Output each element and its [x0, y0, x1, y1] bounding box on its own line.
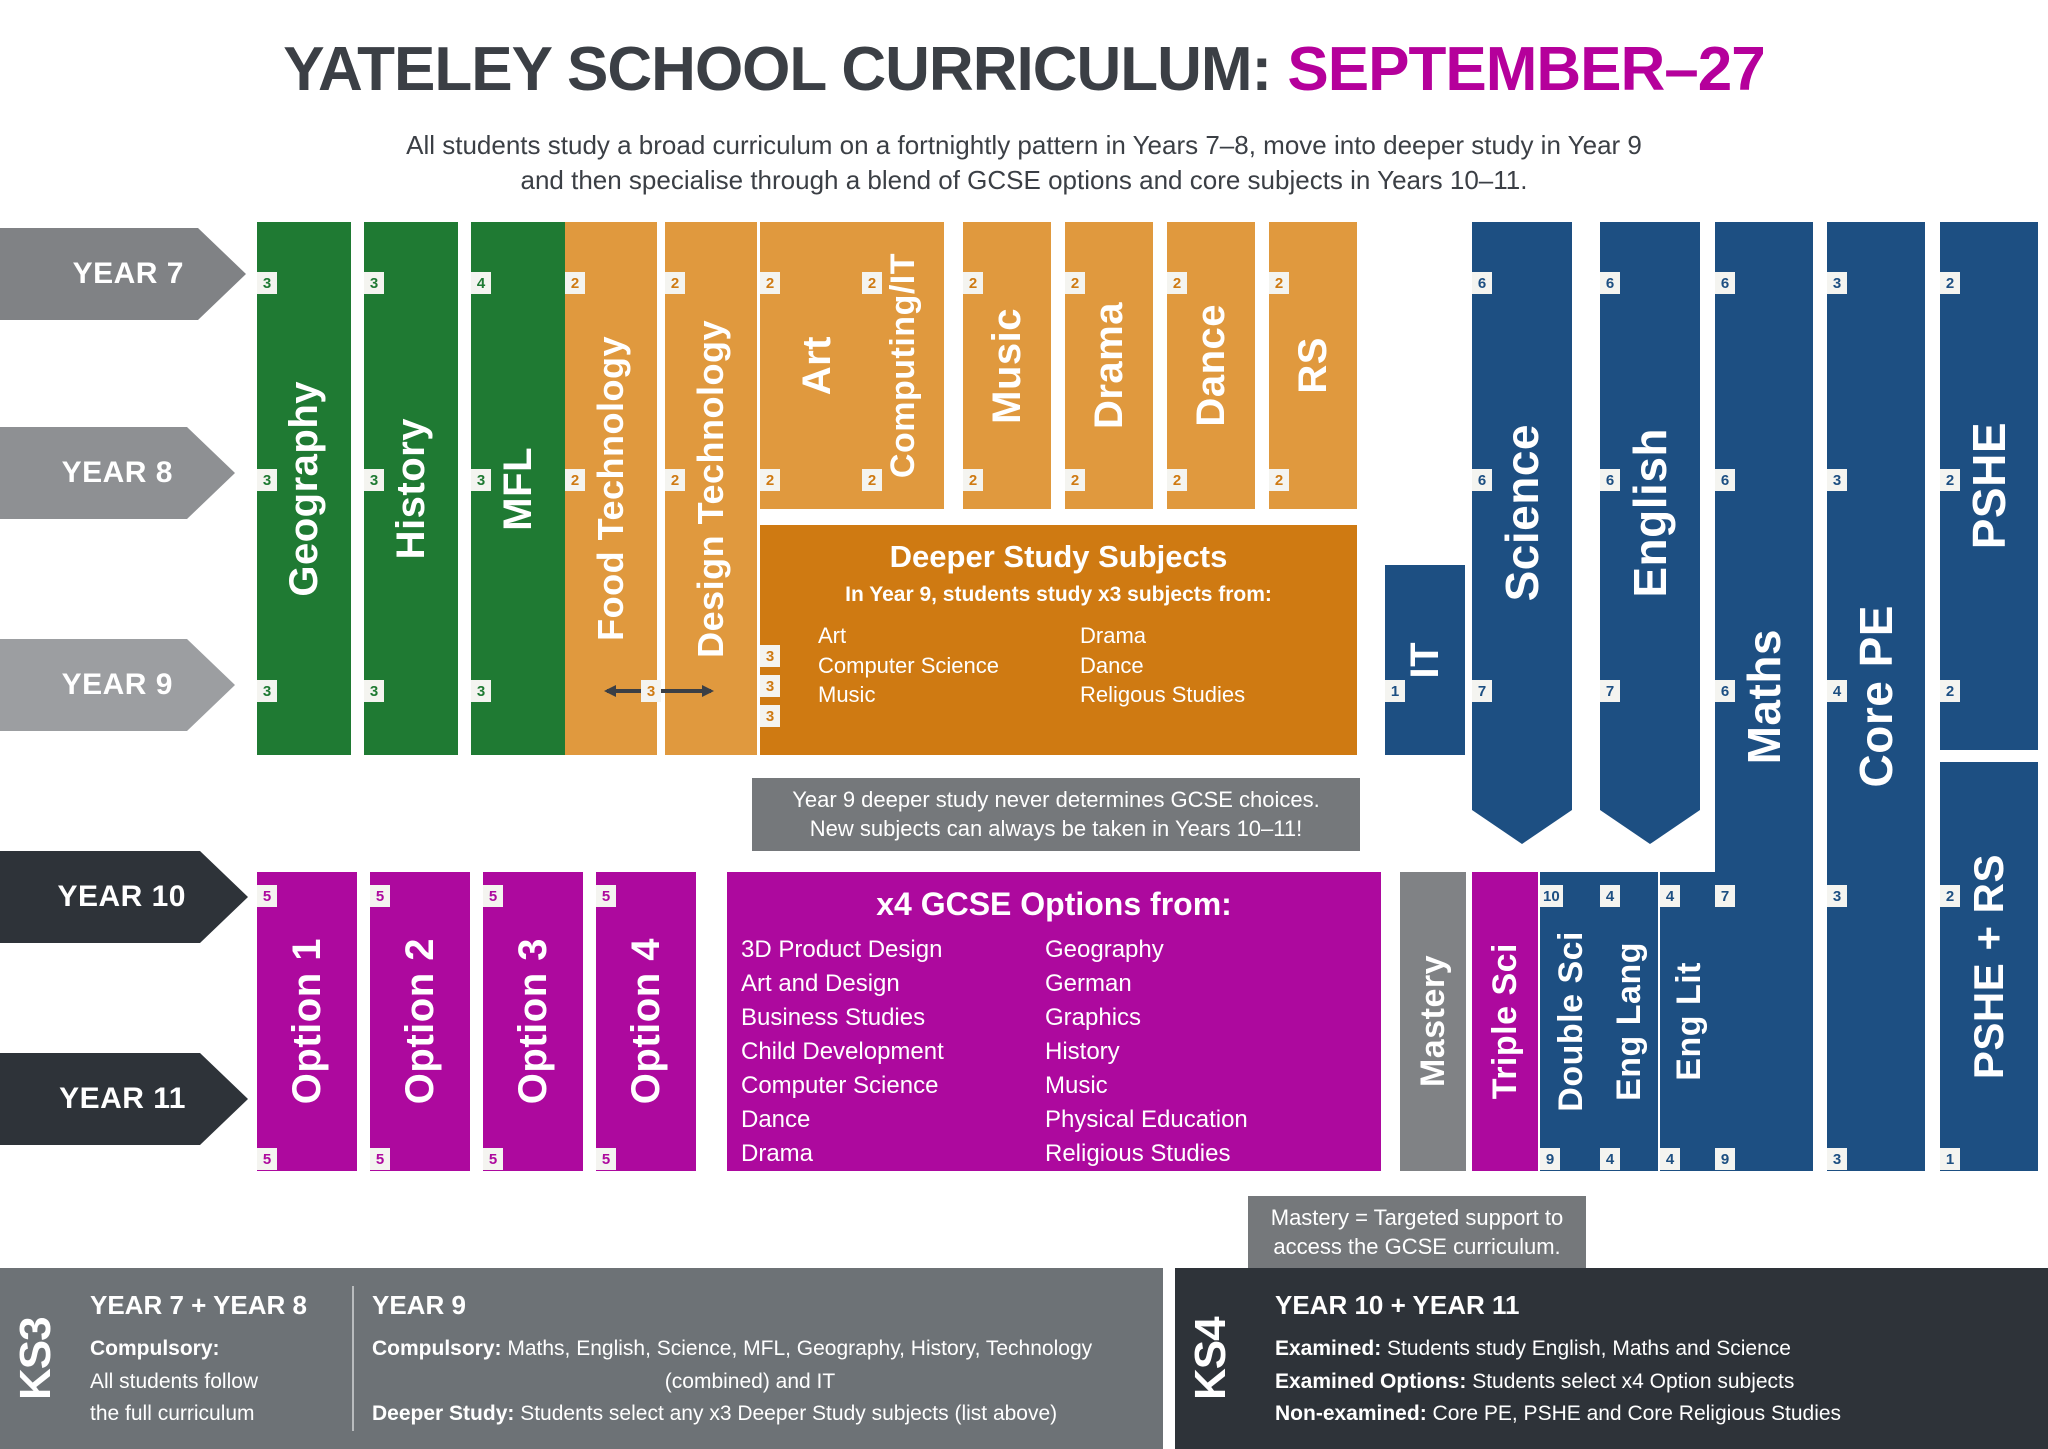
deeper-study-title: Deeper Study Subjects — [760, 539, 1357, 575]
badge-history-y8: 3 — [364, 469, 384, 491]
badge-option3-y11: 5 — [483, 1148, 503, 1170]
column-option-2: Option 2 — [370, 872, 470, 1171]
note-year9-deeper-study: Year 9 deeper study never determines GCS… — [752, 778, 1360, 851]
badge-eng-lang-y11: 4 — [1600, 1148, 1620, 1170]
list-item: Religious Studies — [1045, 1137, 1348, 1171]
badge-music-y8: 2 — [963, 469, 983, 491]
badge-computing-y7: 2 — [862, 272, 882, 294]
badge-double-sci-y10: 10 — [1540, 885, 1563, 907]
badge-mfl-y7: 4 — [471, 272, 491, 294]
gcse-options-title: x4 GCSE Options from: — [727, 872, 1381, 923]
list-item: Drama — [1080, 621, 1245, 651]
ks3-deeper-text: Students select any x3 Deeper Study subj… — [514, 1402, 1057, 1425]
gcse-options-panel: x4 GCSE Options from: 3D Product Design … — [727, 872, 1381, 1171]
column-label: Art — [795, 336, 840, 395]
badge-music-y7: 2 — [963, 272, 983, 294]
column-label: Mastery — [1414, 955, 1453, 1087]
column-mastery: Mastery — [1400, 872, 1466, 1171]
column-music: Music — [963, 222, 1051, 509]
page-subtitle: All students study a broad curriculum on… — [0, 128, 2048, 198]
column-label: Computing/IT — [884, 253, 923, 478]
badge-deeper-3: 3 — [760, 705, 780, 727]
badge-rs-y8: 2 — [1269, 469, 1289, 491]
badge-art-y7: 2 — [760, 272, 780, 294]
year-arrow-year-10: YEAR 10 — [0, 851, 248, 943]
subtitle-line-2: and then specialise through a blend of G… — [0, 163, 2048, 198]
column-english: English — [1600, 222, 1700, 844]
badge-drama-y8: 2 — [1065, 469, 1085, 491]
list-item: Child Development — [741, 1035, 1045, 1069]
year-label: YEAR 9 — [62, 668, 173, 702]
year-label: YEAR 8 — [62, 456, 173, 490]
column-eng-lang: Eng Lang — [1600, 872, 1658, 1171]
column-label: PSHE + RS — [1965, 854, 2013, 1079]
list-item: Food and Nutrition — [741, 1172, 1045, 1206]
list-item: Art and Design — [741, 967, 1045, 1001]
list-item: Dance — [741, 1103, 1045, 1137]
badge-maths-y10: 7 — [1715, 885, 1735, 907]
badge-food-tech-y7: 2 — [565, 272, 585, 294]
note-line-1: Mastery = Targeted support to — [1262, 1204, 1572, 1233]
column-label: History — [389, 418, 434, 559]
list-item: Music — [1045, 1069, 1348, 1103]
badge-pshe-rs-y11: 1 — [1940, 1148, 1960, 1170]
badge-mfl-y8: 3 — [471, 469, 491, 491]
deeper-study-lists: Art Computer Science Music Drama Dance R… — [760, 621, 1357, 710]
badge-maths-y9: 6 — [1715, 680, 1735, 702]
badge-history-y7: 3 — [364, 272, 384, 294]
column-eng-lit: Eng Lit — [1660, 872, 1718, 1171]
badge-computing-y8: 2 — [862, 469, 882, 491]
badge-technology-combined-y9: 3 — [641, 680, 661, 702]
ks4-tag: KS4 — [1175, 1268, 1247, 1449]
column-label: Geography — [282, 381, 327, 597]
column-label: Option 4 — [624, 938, 669, 1104]
note-line-2: New subjects can always be taken in Year… — [766, 815, 1346, 844]
ks3-col1-line2: the full curriculum — [90, 1398, 336, 1431]
list-item: 3D Product Design — [741, 933, 1045, 967]
gcse-right-list: Geography German Graphics History Music … — [1045, 933, 1348, 1240]
column-label: Food Technology — [590, 336, 632, 641]
ks3-col2-title: YEAR 9 — [372, 1290, 1128, 1321]
column-label: Drama — [1087, 302, 1132, 429]
column-option-1: Option 1 — [257, 872, 357, 1171]
list-item: Music — [818, 680, 1080, 710]
badge-design-tech-y8: 2 — [665, 469, 685, 491]
column-art: Art — [760, 222, 875, 509]
column-rs: RS — [1269, 222, 1357, 509]
ks3-year-9-column: YEAR 9 Compulsory: Maths, English, Scien… — [354, 1268, 1144, 1449]
column-label: Option 1 — [285, 938, 330, 1104]
badge-core-pe-y10: 3 — [1827, 885, 1847, 907]
list-item: Computer Science — [818, 651, 1080, 681]
badge-core-pe-y9: 4 — [1827, 680, 1847, 702]
badge-mfl-y9: 3 — [471, 680, 491, 702]
badge-english-y7: 6 — [1600, 272, 1620, 294]
badge-geography-y8: 3 — [257, 469, 277, 491]
badge-deeper-1: 3 — [760, 645, 780, 667]
column-label: Eng Lang — [1610, 942, 1649, 1101]
column-double-sci: Double Sci — [1540, 872, 1602, 1171]
column-science: Science — [1472, 222, 1572, 844]
list-item: Computer Science — [741, 1069, 1045, 1103]
column-computing-it: Computing/IT — [862, 222, 944, 509]
ks4-non-examined-text: Core PE, PSHE and Core Religious Studies — [1427, 1402, 1841, 1425]
ks3-compulsory-label: Compulsory: — [372, 1337, 502, 1360]
year-label: YEAR 10 — [57, 880, 186, 914]
title-main: YATELEY SCHOOL CURRICULUM: — [283, 35, 1287, 104]
list-item: Drama — [741, 1137, 1045, 1171]
list-item: History — [1045, 1035, 1348, 1069]
ks3-tag: KS3 — [0, 1268, 72, 1449]
badge-option2-y11: 5 — [370, 1148, 390, 1170]
column-label: Double Sci — [1552, 931, 1591, 1112]
deeper-study-right-list: Drama Dance Religous Studies — [1080, 621, 1245, 710]
list-item: Business Studies — [741, 1001, 1045, 1035]
badge-rs-y7: 2 — [1269, 272, 1289, 294]
badge-pshe-y7: 2 — [1940, 272, 1960, 294]
ks3-footer-block: KS3 YEAR 7 + YEAR 8 Compulsory: All stud… — [0, 1268, 1163, 1449]
title-accent: SEPTEMBER–27 — [1287, 35, 1764, 104]
column-label: Option 2 — [398, 938, 443, 1104]
column-pshe-rs: PSHE + RS — [1940, 762, 2038, 1171]
badge-pshe-y8: 2 — [1940, 469, 1960, 491]
badge-science-y8: 6 — [1472, 469, 1492, 491]
note-line-2: access the GCSE curriculum. — [1262, 1233, 1572, 1262]
badge-option1-y11: 5 — [257, 1148, 277, 1170]
gcse-options-lists: 3D Product Design Art and Design Busines… — [727, 933, 1381, 1240]
list-item: German — [1045, 967, 1348, 1001]
list-item: Religous Studies — [1080, 680, 1245, 710]
year-arrow-year-7: YEAR 7 — [0, 228, 246, 320]
list-item: French — [741, 1206, 1045, 1240]
ks4-title: YEAR 10 + YEAR 11 — [1275, 1290, 2021, 1321]
list-item: Dance — [1080, 651, 1245, 681]
column-label: MFL — [496, 447, 541, 531]
badge-pshe-rs-y10: 2 — [1940, 885, 1960, 907]
badge-pshe-y9: 2 — [1940, 680, 1960, 702]
ks4-examined-text: Students study English, Maths and Scienc… — [1381, 1337, 1791, 1360]
badge-deeper-2: 3 — [760, 675, 780, 697]
badge-option3-y10: 5 — [483, 885, 503, 907]
badge-history-y9: 3 — [364, 680, 384, 702]
badge-science-y7: 6 — [1472, 272, 1492, 294]
year-label: YEAR 7 — [73, 257, 184, 291]
column-option-4: Option 4 — [596, 872, 696, 1171]
badge-maths-y11: 9 — [1715, 1148, 1735, 1170]
badge-drama-y7: 2 — [1065, 272, 1085, 294]
badge-maths-y7: 6 — [1715, 272, 1735, 294]
badge-science-y9: 7 — [1472, 680, 1492, 702]
badge-art-y8: 2 — [760, 469, 780, 491]
ks4-years-10-11-column: YEAR 10 + YEAR 11 Examined: Students stu… — [1247, 1268, 2037, 1449]
badge-eng-lit-y11: 4 — [1660, 1148, 1680, 1170]
column-label: English — [1623, 428, 1677, 598]
note-line-1: Year 9 deeper study never determines GCS… — [766, 786, 1346, 815]
badge-design-tech-y7: 2 — [665, 272, 685, 294]
badge-maths-y8: 6 — [1715, 469, 1735, 491]
badge-core-pe-y7: 3 — [1827, 272, 1847, 294]
list-item: Geography — [1045, 933, 1348, 967]
ks4-non-examined-label: Non-examined: — [1275, 1402, 1427, 1425]
ks3-col1-line1: All students follow — [90, 1366, 336, 1399]
ks4-footer-block: KS4 YEAR 10 + YEAR 11 Examined: Students… — [1175, 1268, 2048, 1449]
ks3-deeper-label: Deeper Study: — [372, 1402, 514, 1425]
column-label: PSHE — [1962, 422, 2016, 549]
badge-it-y9: 1 — [1385, 680, 1405, 702]
column-label: Core PE — [1849, 605, 1903, 787]
badge-dance-y8: 2 — [1167, 469, 1187, 491]
ks3-col1-title: YEAR 7 + YEAR 8 — [90, 1290, 336, 1321]
badge-geography-y9: 3 — [257, 680, 277, 702]
badge-core-pe-y11: 3 — [1827, 1148, 1847, 1170]
year-label: YEAR 11 — [59, 1082, 186, 1116]
gcse-left-list: 3D Product Design Art and Design Busines… — [741, 933, 1045, 1240]
column-label: Design Technology — [690, 320, 732, 658]
badge-food-tech-y8: 2 — [565, 469, 585, 491]
ks3-col1-label: Compulsory: — [90, 1337, 220, 1360]
badge-option1-y10: 5 — [257, 885, 277, 907]
column-it: IT — [1385, 565, 1465, 755]
column-label: Science — [1495, 424, 1549, 601]
column-label: Triple Sci — [1486, 943, 1525, 1099]
badge-english-y8: 6 — [1600, 469, 1620, 491]
badge-option2-y10: 5 — [370, 885, 390, 907]
badge-option4-y11: 5 — [596, 1148, 616, 1170]
badge-core-pe-y8: 3 — [1827, 469, 1847, 491]
deeper-study-left-list: Art Computer Science Music — [818, 621, 1080, 710]
badge-dance-y7: 2 — [1167, 272, 1187, 294]
subtitle-line-1: All students study a broad curriculum on… — [0, 128, 2048, 163]
ks4-examined-options-label: Examined Options: — [1275, 1370, 1466, 1393]
ks4-examined-label: Examined: — [1275, 1337, 1381, 1360]
deeper-study-panel: Deeper Study Subjects In Year 9, student… — [760, 525, 1357, 755]
column-drama: Drama — [1065, 222, 1153, 509]
column-label: Option 3 — [511, 938, 556, 1104]
list-item: Art — [818, 621, 1080, 651]
note-mastery: Mastery = Targeted support to access the… — [1248, 1196, 1586, 1269]
year-arrow-year-11: YEAR 11 — [0, 1053, 248, 1145]
column-label: Music — [985, 308, 1030, 424]
column-dance: Dance — [1167, 222, 1255, 509]
list-item: Graphics — [1045, 1001, 1348, 1035]
curriculum-infographic: YATELEY SCHOOL CURRICULUM: SEPTEMBER–27 … — [0, 0, 2048, 1449]
badge-english-y9: 7 — [1600, 680, 1620, 702]
ks3-compulsory-cont: (combined) and IT — [372, 1366, 1128, 1399]
column-triple-sci: Triple Sci — [1472, 872, 1538, 1171]
badge-option4-y10: 5 — [596, 885, 616, 907]
list-item: Physical Education — [1045, 1103, 1348, 1137]
column-label: IT — [1403, 642, 1448, 679]
badge-geography-y7: 3 — [257, 272, 277, 294]
column-label: Eng Lit — [1670, 962, 1709, 1081]
badge-double-sci-y11: 9 — [1540, 1148, 1560, 1170]
column-label: Maths — [1737, 629, 1791, 764]
year-arrow-year-8: YEAR 8 — [0, 427, 235, 519]
page-title: YATELEY SCHOOL CURRICULUM: SEPTEMBER–27 — [0, 34, 2048, 105]
ks4-examined-options-text: Students select x4 Option subjects — [1466, 1370, 1794, 1393]
column-label: Dance — [1189, 304, 1234, 427]
ks3-compulsory-text: Maths, English, Science, MFL, Geography,… — [502, 1337, 1093, 1360]
year-arrow-year-9: YEAR 9 — [0, 639, 235, 731]
badge-eng-lit-y10: 4 — [1660, 885, 1680, 907]
badge-eng-lang-y10: 4 — [1600, 885, 1620, 907]
column-option-3: Option 3 — [483, 872, 583, 1171]
column-label: RS — [1291, 337, 1336, 394]
deeper-study-subtitle: In Year 9, students study x3 subjects fr… — [760, 583, 1357, 607]
ks3-years-7-8-column: YEAR 7 + YEAR 8 Compulsory: All students… — [72, 1268, 352, 1449]
